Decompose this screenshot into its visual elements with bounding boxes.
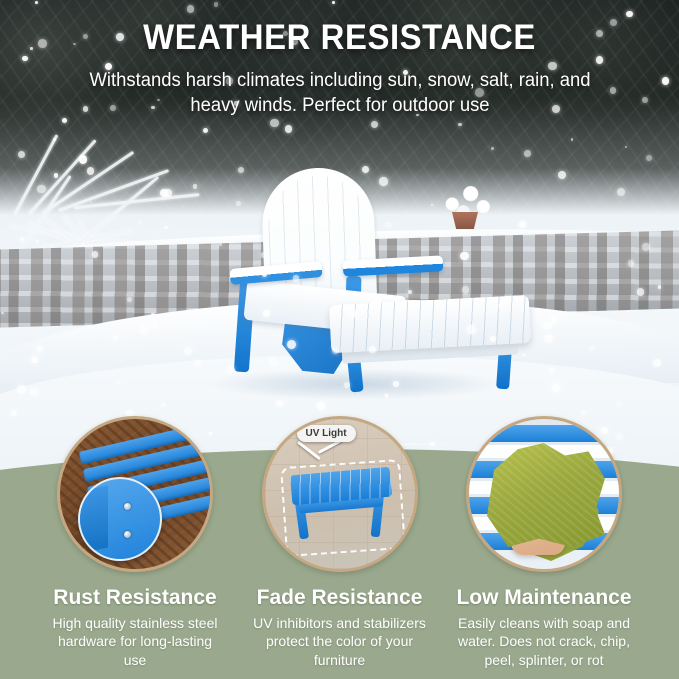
weather-resistance-infographic: WEATHER RESISTANCE Withstands harsh clim… [0,0,679,679]
ottoman-icon [330,300,530,395]
feature-title: Low Maintenance [454,586,634,610]
uv-ray-icon [297,441,321,461]
feature-row: Rust Resistance High quality stainless s… [0,416,679,666]
feature-description: High quality stainless steel hardware fo… [48,614,223,669]
cloth-icon [487,443,605,547]
feature-description: UV inhibitors and stabilizers protect th… [252,614,427,669]
feature-low-maintenance: Low Maintenance Easily cleans with soap … [454,416,634,666]
stainless-screw-icon [124,503,131,510]
page-subtitle: Withstands harsh climates including sun,… [78,68,602,119]
low-maintenance-photo [466,416,622,572]
rust-resistance-photo [57,416,213,572]
twig-icon [28,139,96,215]
chair-slats-icon [466,425,622,442]
header: WEATHER RESISTANCE Withstands harsh clim… [0,18,679,119]
uv-light-badge-icon: UV Light [297,425,356,442]
feature-title: Rust Resistance [45,586,225,610]
feature-description: Easily cleans with soap and water. Does … [457,614,632,669]
stainless-screw-icon [124,531,131,538]
feature-title: Fade Resistance [250,586,430,610]
ottoman-icon [291,471,391,543]
page-title: WEATHER RESISTANCE [20,18,658,58]
magnifier-inset-icon [78,477,162,561]
feature-fade-resistance: UV Light Fade Resistance UV inhibitors a… [250,416,430,666]
feature-rust-resistance: Rust Resistance High quality stainless s… [45,416,225,666]
fade-resistance-photo: UV Light [262,416,418,572]
